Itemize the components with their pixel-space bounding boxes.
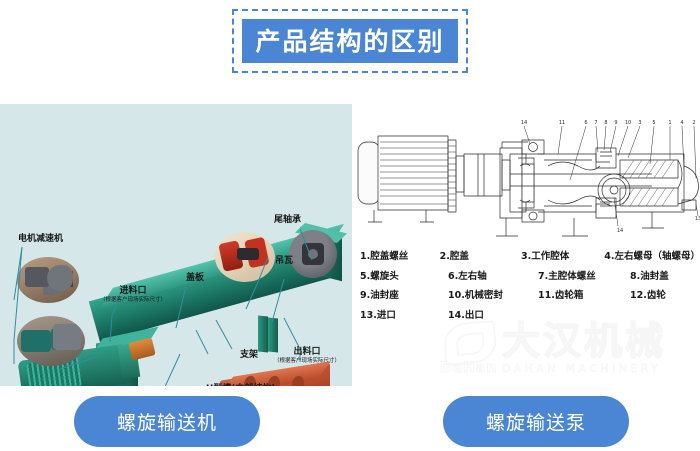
legend-item-8: 8.油封盖 bbox=[630, 272, 669, 282]
legend-item-9: 9.油封座 bbox=[360, 291, 448, 301]
watermark-chinese: 大汉机械 bbox=[502, 322, 666, 360]
legend-item-5: 5.螺旋头 bbox=[360, 272, 448, 282]
legend-row: 5.螺旋头 6.左右轴 7.主腔体螺丝 8.油封盖 bbox=[360, 272, 700, 282]
label-motor-reducer: 电机减速机 bbox=[18, 234, 63, 244]
left-product-diagram-panel: 电机减速机 进料口 （根据客户现场实际尺寸） 盖板 尾轴承 吊瓦 出料口 （根据… bbox=[0, 104, 352, 386]
watermark-brand: DaHan bbox=[440, 360, 497, 376]
svg-text:2: 2 bbox=[692, 120, 695, 126]
legend-row: 1.腔盖螺丝 2.腔盖 3.工作腔体 4.左右螺母（轴螺母） bbox=[360, 252, 700, 262]
svg-text:10: 10 bbox=[625, 120, 631, 126]
legend-item-2: 2.腔盖 bbox=[440, 252, 521, 262]
svg-text:6: 6 bbox=[584, 120, 587, 126]
legend-item-13: 13.进口 bbox=[360, 311, 448, 321]
pump-cross-section-svg: 14 11 6 7 8 9 10 3 5 1 4 2 14 13 bbox=[352, 104, 700, 254]
label-inlet: 进料口 （根据客户现场实际尺寸） bbox=[100, 286, 166, 304]
watermark-english: DAHAN MACHINERY bbox=[502, 362, 661, 375]
legend-item-11: 11.齿轮箱 bbox=[538, 291, 630, 301]
left-leader-lines bbox=[0, 104, 352, 386]
svg-text:3: 3 bbox=[638, 120, 641, 126]
svg-text:7: 7 bbox=[594, 120, 597, 126]
screw-pump-technical-drawing: 14 11 6 7 8 9 10 3 5 1 4 2 14 13 1.腔盖螺丝 … bbox=[352, 104, 700, 386]
legend-item-12: 12.齿轮 bbox=[630, 291, 666, 301]
page-title: 产品结构的区别 bbox=[255, 29, 444, 54]
button-screw-conveyor-pump[interactable]: 螺旋输送泵 bbox=[443, 396, 629, 447]
legend-item-7: 7.主腔体螺丝 bbox=[538, 272, 630, 282]
legend-item-3: 3.工作腔体 bbox=[521, 252, 604, 262]
right-product-diagram-panel: 14 11 6 7 8 9 10 3 5 1 4 2 14 13 1.腔盖螺丝 … bbox=[352, 104, 700, 386]
svg-text:14: 14 bbox=[617, 228, 623, 234]
svg-text:9: 9 bbox=[614, 120, 617, 126]
svg-text:14: 14 bbox=[521, 120, 527, 126]
svg-text:4: 4 bbox=[680, 120, 683, 126]
label-hanger-bearing: 吊瓦 bbox=[275, 256, 293, 266]
legend-item-1: 1.腔盖螺丝 bbox=[360, 252, 440, 262]
svg-text:1: 1 bbox=[668, 120, 671, 126]
legend-row: 9.油封座 10.机械密封 11.齿轮箱 12.齿轮 bbox=[360, 291, 700, 301]
svg-text:8: 8 bbox=[604, 120, 607, 126]
svg-text:13: 13 bbox=[695, 216, 700, 222]
legend-item-6: 6.左右轴 bbox=[448, 272, 538, 282]
label-u-trough: U型槽(内部结构) bbox=[206, 384, 276, 386]
svg-text:5: 5 bbox=[652, 120, 655, 126]
svg-text:11: 11 bbox=[559, 120, 565, 126]
label-outlet: 出料口 （根据客户现场实际尺寸） bbox=[274, 347, 340, 365]
dahan-logo-icon bbox=[443, 320, 498, 366]
page-title-frame: 产品结构的区别 bbox=[232, 9, 468, 73]
page-title-box: 产品结构的区别 bbox=[242, 19, 458, 63]
label-cover-plate: 盖板 bbox=[186, 273, 204, 283]
label-support: 支架 bbox=[240, 350, 258, 360]
brand-watermark: DaHan 大汉机械 DAHAN MACHINERY bbox=[440, 322, 696, 384]
legend-item-4: 4.左右螺母（轴螺母） bbox=[604, 252, 700, 262]
button-screw-conveyor[interactable]: 螺旋输送机 bbox=[74, 396, 260, 447]
legend-item-10: 10.机械密封 bbox=[448, 291, 538, 301]
label-tail-bearing: 尾轴承 bbox=[274, 215, 301, 225]
